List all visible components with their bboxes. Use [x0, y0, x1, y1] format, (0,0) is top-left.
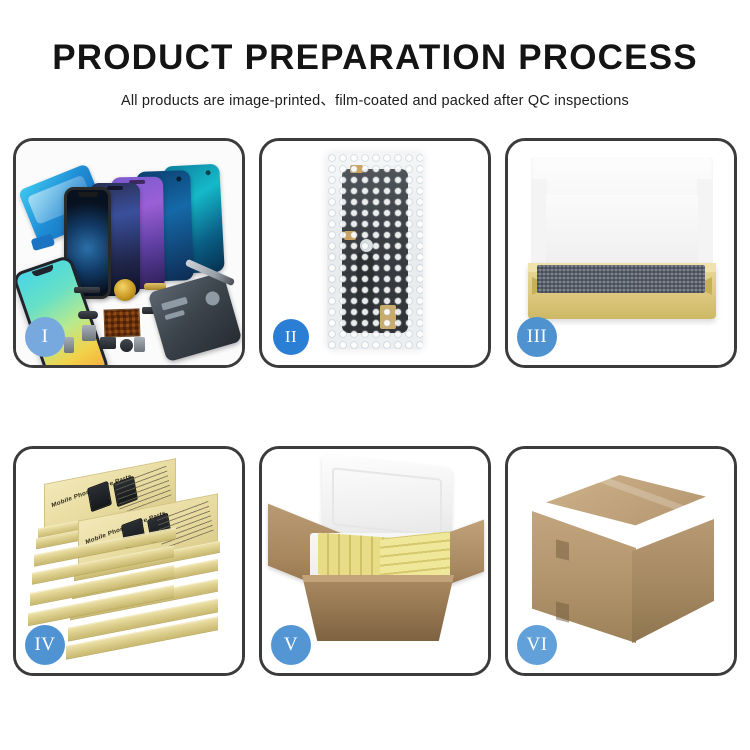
step-panel-3: III [505, 138, 737, 368]
step-panel-5: V [259, 446, 491, 676]
part-sim-tray-icon [134, 337, 145, 352]
sealed-carton-icon [532, 475, 714, 647]
step-panel-6: VI [505, 446, 737, 676]
part-chip-icon [64, 337, 74, 353]
white-box-lid-icon [531, 157, 713, 267]
bubble-wrap-bag-icon [327, 153, 423, 349]
step-panel-1: I [13, 138, 245, 368]
step-badge-1: I [25, 317, 65, 357]
step-badge-6: VI [517, 625, 557, 665]
grey-foam-pack-icon [537, 265, 705, 293]
page-subtitle: All products are image-printed、film-coat… [0, 89, 750, 110]
page-title: PRODUCT PREPARATION PROCESS [0, 38, 750, 78]
step-badge-5: V [271, 625, 311, 665]
yellow-boxes-row-2-icon [380, 531, 450, 582]
step-badge-2: II [273, 319, 309, 355]
chip-grid-icon [104, 308, 141, 337]
step-badge-3: III [517, 317, 557, 357]
header: PRODUCT PREPARATION PROCESS All products… [0, 0, 750, 110]
gold-coil-icon [114, 279, 136, 301]
bubble-texture [327, 153, 423, 349]
part-lens-icon [120, 339, 133, 352]
part-speaker-icon [74, 287, 100, 293]
step-badge-4: IV [25, 625, 65, 665]
carton-body-icon [302, 575, 454, 641]
step-panel-2: II [259, 138, 491, 368]
step-panel-4: Mobile Phone Spare Parts Mobile Phone Sp… [13, 446, 245, 676]
part-bracket-icon [82, 325, 96, 341]
part-button-icon [78, 311, 98, 319]
part-camera-icon [100, 337, 116, 349]
product-preparation-infographic: PRODUCT PREPARATION PROCESS All products… [0, 0, 750, 750]
steps-grid: I II [13, 138, 737, 676]
